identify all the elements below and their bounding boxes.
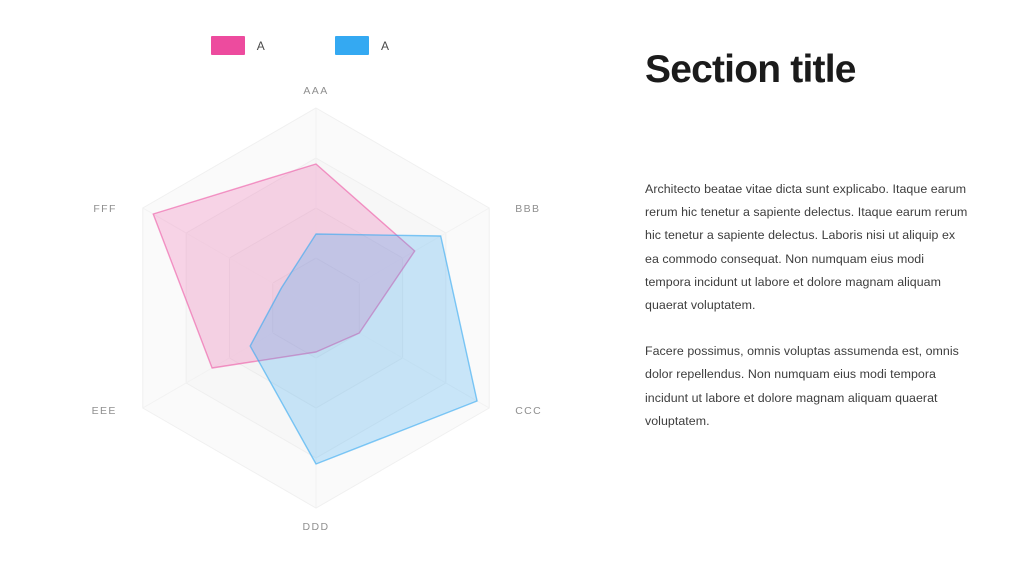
- axis-label-ccc: CCC: [515, 405, 542, 417]
- body-copy: Architecto beatae vitae dicta sunt expli…: [645, 178, 971, 433]
- body-paragraph-2: Facere possimus, omnis voluptas assumend…: [645, 340, 971, 433]
- axis-label-eee: EEE: [92, 405, 117, 417]
- chart-panel: A A AAABBBCCCDDDEEEFFF: [0, 0, 600, 576]
- axis-label-aaa: AAA: [303, 85, 328, 97]
- legend-swatch-blue: [335, 36, 369, 55]
- body-paragraph-1: Architecto beatae vitae dicta sunt expli…: [645, 178, 971, 317]
- axis-label-bbb: BBB: [515, 203, 540, 215]
- axis-label-ddd: DDD: [303, 521, 330, 533]
- axis-label-fff: FFF: [93, 203, 116, 215]
- page-title: Section title: [645, 48, 856, 93]
- text-panel: Section title Architecto beatae vitae di…: [645, 0, 985, 576]
- radar-chart: AAABBBCCCDDDEEEFFF: [0, 55, 600, 545]
- legend-item-series-blue[interactable]: A: [335, 36, 389, 55]
- legend-item-series-pink[interactable]: A: [211, 36, 265, 55]
- chart-legend: A A: [0, 36, 600, 55]
- legend-swatch-pink: [211, 36, 245, 55]
- legend-label-blue: A: [381, 40, 389, 52]
- legend-label-pink: A: [257, 40, 265, 52]
